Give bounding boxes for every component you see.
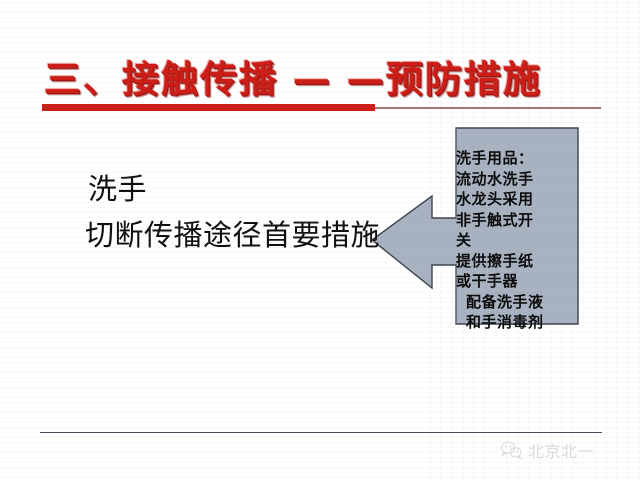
wechat-icon	[500, 440, 524, 460]
callout-line-2: 流动水洗手	[456, 169, 576, 190]
callout-line-8: 配备洗手液	[456, 292, 576, 313]
body-text-block: 洗手 切断传播途径首要措施	[88, 166, 378, 258]
callout-line-4: 非手触式开	[456, 210, 576, 231]
callout-line-3: 水龙头采用	[456, 189, 576, 210]
slide-canvas: 三、接触传播 — —预防措施 洗手 切断传播途径首要措施 洗手用品： 流动水洗手…	[0, 0, 640, 480]
watermark: 北京北一	[500, 437, 594, 463]
body-text-line-2: 切断传播途径首要措施	[85, 212, 378, 258]
title-underline-bar	[42, 104, 375, 111]
callout-line-7: 或干手器	[456, 271, 576, 292]
footer-divider	[40, 432, 602, 433]
body-text-line-1: 洗手	[88, 166, 378, 212]
callout-arrow-box: 洗手用品： 流动水洗手 水龙头采用 非手触式开 关 提供擦手纸 或干手器 配备洗…	[370, 126, 580, 326]
callout-line-5: 关	[456, 230, 576, 251]
title-underline-extension	[375, 107, 601, 109]
watermark-label: 北京北一	[528, 438, 594, 462]
callout-line-9: 和手消毒剂	[456, 312, 576, 333]
callout-line-1: 洗手用品：	[456, 148, 576, 169]
callout-line-6: 提供擦手纸	[456, 251, 576, 272]
page-title: 三、接触传播 — —预防措施	[44, 57, 604, 103]
callout-text-block: 洗手用品： 流动水洗手 水龙头采用 非手触式开 关 提供擦手纸 或干手器 配备洗…	[456, 148, 576, 333]
